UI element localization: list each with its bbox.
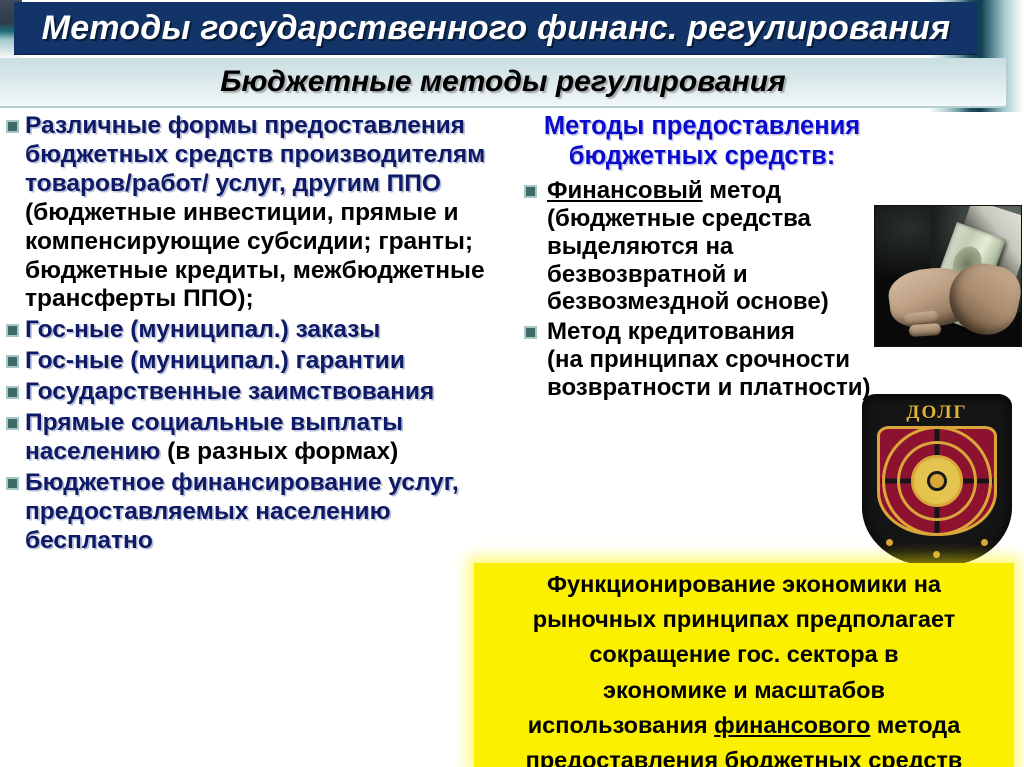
- callout-line: рыночных принципах предполагает: [474, 598, 1014, 633]
- list-item-text: Гос-ные (муниципал.) заказы: [25, 316, 506, 345]
- target-center-dot: [927, 471, 947, 491]
- callout-text-underlined: финансового: [714, 712, 870, 738]
- list-item: Государственные заимствования: [6, 378, 506, 407]
- slide-canvas: Методы государственного финанс. регулиро…: [0, 0, 1024, 767]
- bullet-square-icon: [6, 120, 19, 133]
- bullet-square-icon: [6, 417, 19, 430]
- list-item-text: Метод кредитования(на принципах срочност…: [547, 318, 892, 401]
- list-item-text-bold: Метод кредитования: [547, 318, 795, 345]
- callout-line: сокращение гос. сектора в: [474, 633, 1014, 668]
- bullet-square-icon: [6, 386, 19, 399]
- list-item: Прямые социальные выплаты населению (в р…: [6, 409, 506, 467]
- page-title: Методы государственного финанс. регулиро…: [14, 2, 978, 54]
- list-item: Бюджетное финансирование услуг, предоста…: [6, 469, 506, 556]
- callout-text-post: метода: [870, 712, 960, 738]
- list-item: Гос-ные (муниципал.) гарантии: [6, 347, 506, 376]
- bullet-square-icon: [6, 477, 19, 490]
- emblem-stud: [933, 551, 940, 558]
- emblem-stud: [886, 539, 893, 546]
- bullet-square-icon: [6, 324, 19, 337]
- slide-title-bar: Методы государственного финанс. регулиро…: [14, 2, 978, 54]
- callout-text-pre: использования: [528, 712, 714, 738]
- list-item-text-black: (на принципах срочности возвратности и п…: [547, 346, 871, 401]
- list-item-text: Бюджетное финансирование услуг, предоста…: [25, 469, 506, 556]
- bullet-square-icon: [6, 355, 19, 368]
- yellow-callout-box: Функционирование экономики на рыночных п…: [474, 563, 1014, 767]
- page-subtitle: Бюджетные методы регулирования: [0, 58, 1006, 106]
- emblem-shield: [877, 426, 997, 536]
- emblem-word-label: ДОЛГ: [862, 402, 1012, 424]
- callout-line-with-emphasis: использования финансового метода: [474, 704, 1014, 739]
- list-item-text: Государственные заимствования: [25, 378, 506, 407]
- list-item: Гос-ные (муниципал.) заказы: [6, 316, 506, 345]
- list-item-text-black: (бюджетные инвестиции, прямые и компенси…: [25, 199, 485, 313]
- right-bullet-column: Методы предоставления бюджетных средств:…: [512, 112, 892, 404]
- emblem-stud: [981, 539, 988, 546]
- finger-shape: [909, 323, 942, 337]
- bullet-square-icon: [524, 326, 537, 339]
- slide-subtitle-bar: Бюджетные методы регулирования: [0, 58, 1008, 108]
- list-item: Финансовый метод(бюджетные средства выде…: [512, 177, 892, 316]
- list-item-text: Гос-ные (муниципал.) гарантии: [25, 347, 506, 376]
- list-item-text-bold: метод: [703, 177, 781, 204]
- dolg-emblem-patch: ДОЛГ: [862, 394, 1012, 566]
- bullet-square-icon: [524, 185, 537, 198]
- list-item-text-navy: Различные формы предоставления бюджетных…: [25, 112, 485, 197]
- callout-line: экономике и масштабов: [474, 669, 1014, 704]
- list-item: Различные формы предоставления бюджетных…: [6, 112, 506, 314]
- list-item-text-black: (в разных формах): [167, 438, 398, 465]
- list-item-emphasis: Финансовый: [547, 177, 703, 204]
- list-item-text: Прямые социальные выплаты населению (в р…: [25, 409, 506, 467]
- list-item: Метод кредитования(на принципах срочност…: [512, 318, 892, 401]
- right-column-heading: Методы предоставления бюджетных средств:: [512, 112, 892, 171]
- handshake-with-money-photo: [874, 205, 1022, 347]
- list-item-text: Различные формы предоставления бюджетных…: [25, 112, 506, 314]
- callout-line: предоставления бюджетных средств: [474, 739, 1014, 767]
- left-bullet-column: Различные формы предоставления бюджетных…: [6, 112, 506, 558]
- list-item-text-black: (бюджетные средства выделяются на безвоз…: [547, 205, 829, 315]
- callout-line: Функционирование экономики на: [474, 563, 1014, 598]
- list-item-text: Финансовый метод(бюджетные средства выде…: [547, 177, 892, 316]
